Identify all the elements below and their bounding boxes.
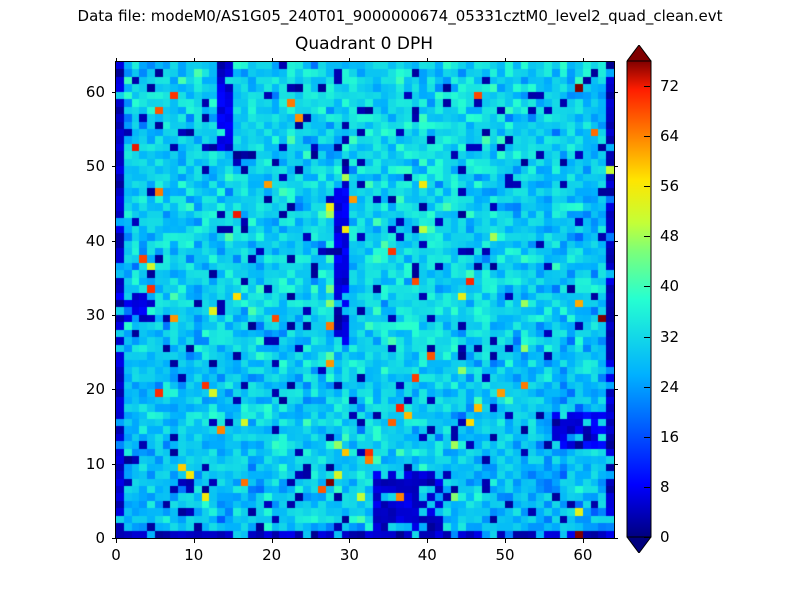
y-tick-label: 20 [86,380,105,398]
colorbar-tick [644,337,650,338]
y-tick [112,538,116,539]
colorbar-gradient [624,45,654,553]
y-tick [112,241,116,242]
x-tick [583,539,584,543]
x-tick-top [349,58,350,62]
colorbar-tick-label: 32 [660,328,679,346]
y-tick-label: 60 [86,83,105,101]
colorbar-body [627,61,651,537]
y-tick-right [614,92,618,93]
colorbar-tick-label: 0 [660,528,670,546]
y-tick-right [614,241,618,242]
x-tick [116,539,117,543]
x-tick-top [427,58,428,62]
y-tick-right [614,464,618,465]
y-tick-label: 40 [86,232,105,250]
x-tick [272,539,273,543]
colorbar-tick [644,86,650,87]
x-tick [349,539,350,543]
colorbar-tick [644,286,650,287]
y-tick-label: 10 [86,455,105,473]
colorbar-tick [644,186,650,187]
colorbar-tick-label: 8 [660,478,670,496]
colorbar-tick [644,387,650,388]
y-tick [112,166,116,167]
heatmap-axes[interactable]: 01020304050600102030405060 [115,61,615,539]
y-tick-label: 0 [95,529,105,547]
y-tick [112,315,116,316]
x-tick-top [194,58,195,62]
y-tick-right [614,315,618,316]
colorbar[interactable]: 081624324048566472 [627,61,651,537]
x-tick-label: 50 [496,546,515,564]
y-tick [112,92,116,93]
x-tick-top [272,58,273,62]
colorbar-tick [644,437,650,438]
y-tick-label: 50 [86,157,105,175]
page-title: Quadrant 0 DPH [115,34,613,54]
y-tick-right [614,538,618,539]
x-tick-label: 60 [573,546,592,564]
y-tick [112,389,116,390]
colorbar-under-arrow [627,537,651,553]
x-tick [427,539,428,543]
colorbar-tick-label: 16 [660,428,679,446]
colorbar-tick-label: 48 [660,227,679,245]
colorbar-tick-label: 56 [660,177,679,195]
colorbar-tick-label: 40 [660,277,679,295]
x-tick-label: 20 [262,546,281,564]
x-tick-label: 10 [184,546,203,564]
colorbar-tick [644,537,650,538]
y-tick-right [614,166,618,167]
colorbar-tick-label: 72 [660,77,679,95]
colorbar-tick-label: 64 [660,127,679,145]
x-tick-label: 30 [340,546,359,564]
colorbar-tick [644,236,650,237]
y-tick [112,464,116,465]
x-tick [194,539,195,543]
x-tick-top [583,58,584,62]
colorbar-over-arrow [627,45,651,61]
data-file-title: Data file: modeM0/AS1G05_240T01_90000006… [0,7,800,25]
colorbar-tick [644,487,650,488]
heatmap-image[interactable] [116,62,614,538]
colorbar-tick-label: 24 [660,378,679,396]
figure-canvas: Data file: modeM0/AS1G05_240T01_90000006… [0,0,800,600]
x-tick-label: 40 [418,546,437,564]
x-tick [505,539,506,543]
y-tick-right [614,389,618,390]
y-tick-label: 30 [86,306,105,324]
x-tick-top [505,58,506,62]
x-tick-top [116,58,117,62]
x-tick-label: 0 [111,546,121,564]
colorbar-tick [644,136,650,137]
